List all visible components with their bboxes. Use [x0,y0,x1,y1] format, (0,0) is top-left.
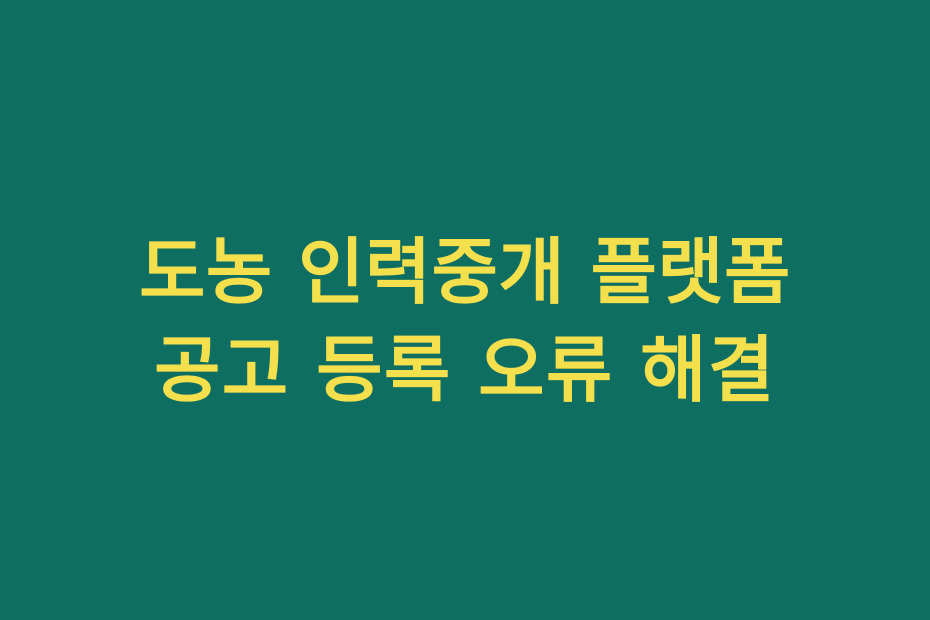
title-card: 도농 인력중개 플랫폼 공고 등록 오류 해결 [0,0,930,620]
headline-line-1: 도농 인력중개 플랫폼 [139,223,791,321]
headline-block: 도농 인력중개 플랫폼 공고 등록 오류 해결 [99,223,831,419]
headline-line-2: 공고 등록 오류 해결 [154,321,776,419]
